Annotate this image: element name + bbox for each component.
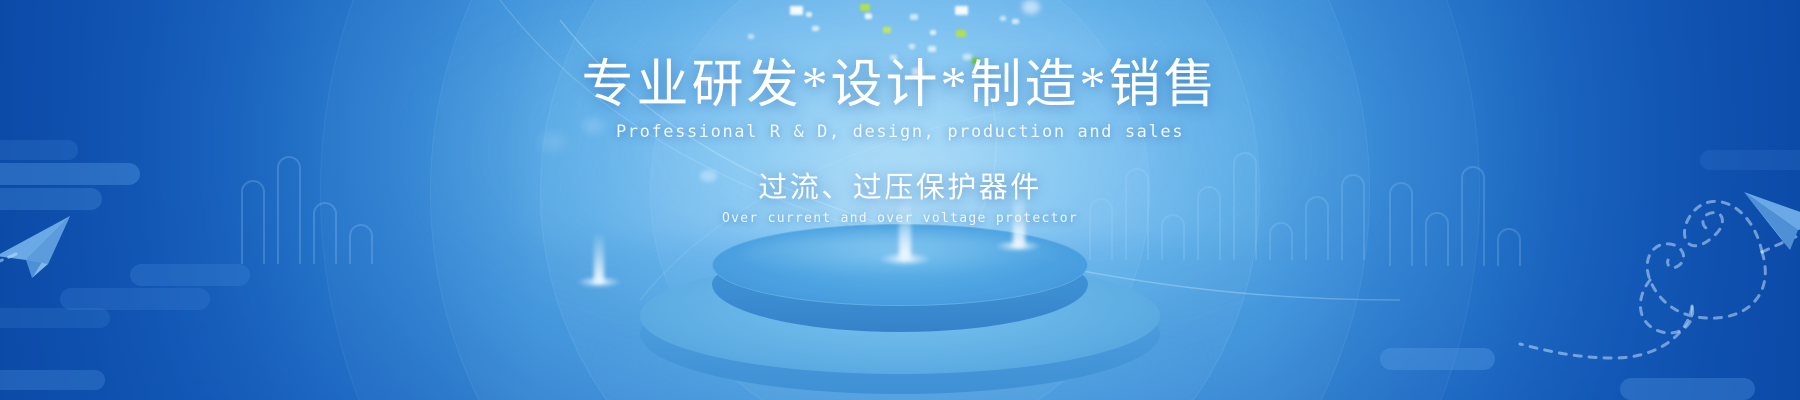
subheadline-english: Over current and over voltage protector <box>0 211 1800 226</box>
particle <box>909 44 915 49</box>
particle <box>956 30 966 37</box>
cloud-bar <box>1620 378 1755 400</box>
particle <box>748 34 754 39</box>
light-beam-pool <box>995 240 1041 252</box>
particle <box>955 6 968 15</box>
particle <box>910 14 918 20</box>
light-beam-pool <box>879 252 931 266</box>
cloud-bar <box>0 308 110 328</box>
light-beam-pool <box>577 276 621 288</box>
particle <box>812 26 819 31</box>
particle <box>1000 16 1006 21</box>
banner-text-block: 专业研发*设计*制造*销售 Professional R & D, design… <box>0 56 1800 226</box>
cloud-bar <box>0 370 105 390</box>
particle <box>883 27 891 33</box>
particle <box>860 4 870 11</box>
paper-plane-trail <box>0 250 30 300</box>
headline-english: Professional R & D, design, production a… <box>0 122 1800 142</box>
particle <box>806 12 812 17</box>
cloud-bar <box>1380 348 1495 370</box>
subheadline-chinese: 过流、过压保护器件 <box>0 164 1800 206</box>
headline-chinese: 专业研发*设计*制造*销售 <box>0 56 1800 116</box>
particle <box>790 6 803 15</box>
particle <box>1022 0 1040 14</box>
particle <box>1012 19 1019 24</box>
particle <box>928 46 936 52</box>
particle <box>865 13 871 18</box>
cloud-bar <box>60 288 210 310</box>
particle <box>930 30 936 35</box>
light-beam <box>594 232 604 282</box>
hero-banner: 专业研发*设计*制造*销售 Professional R & D, design… <box>0 0 1800 400</box>
